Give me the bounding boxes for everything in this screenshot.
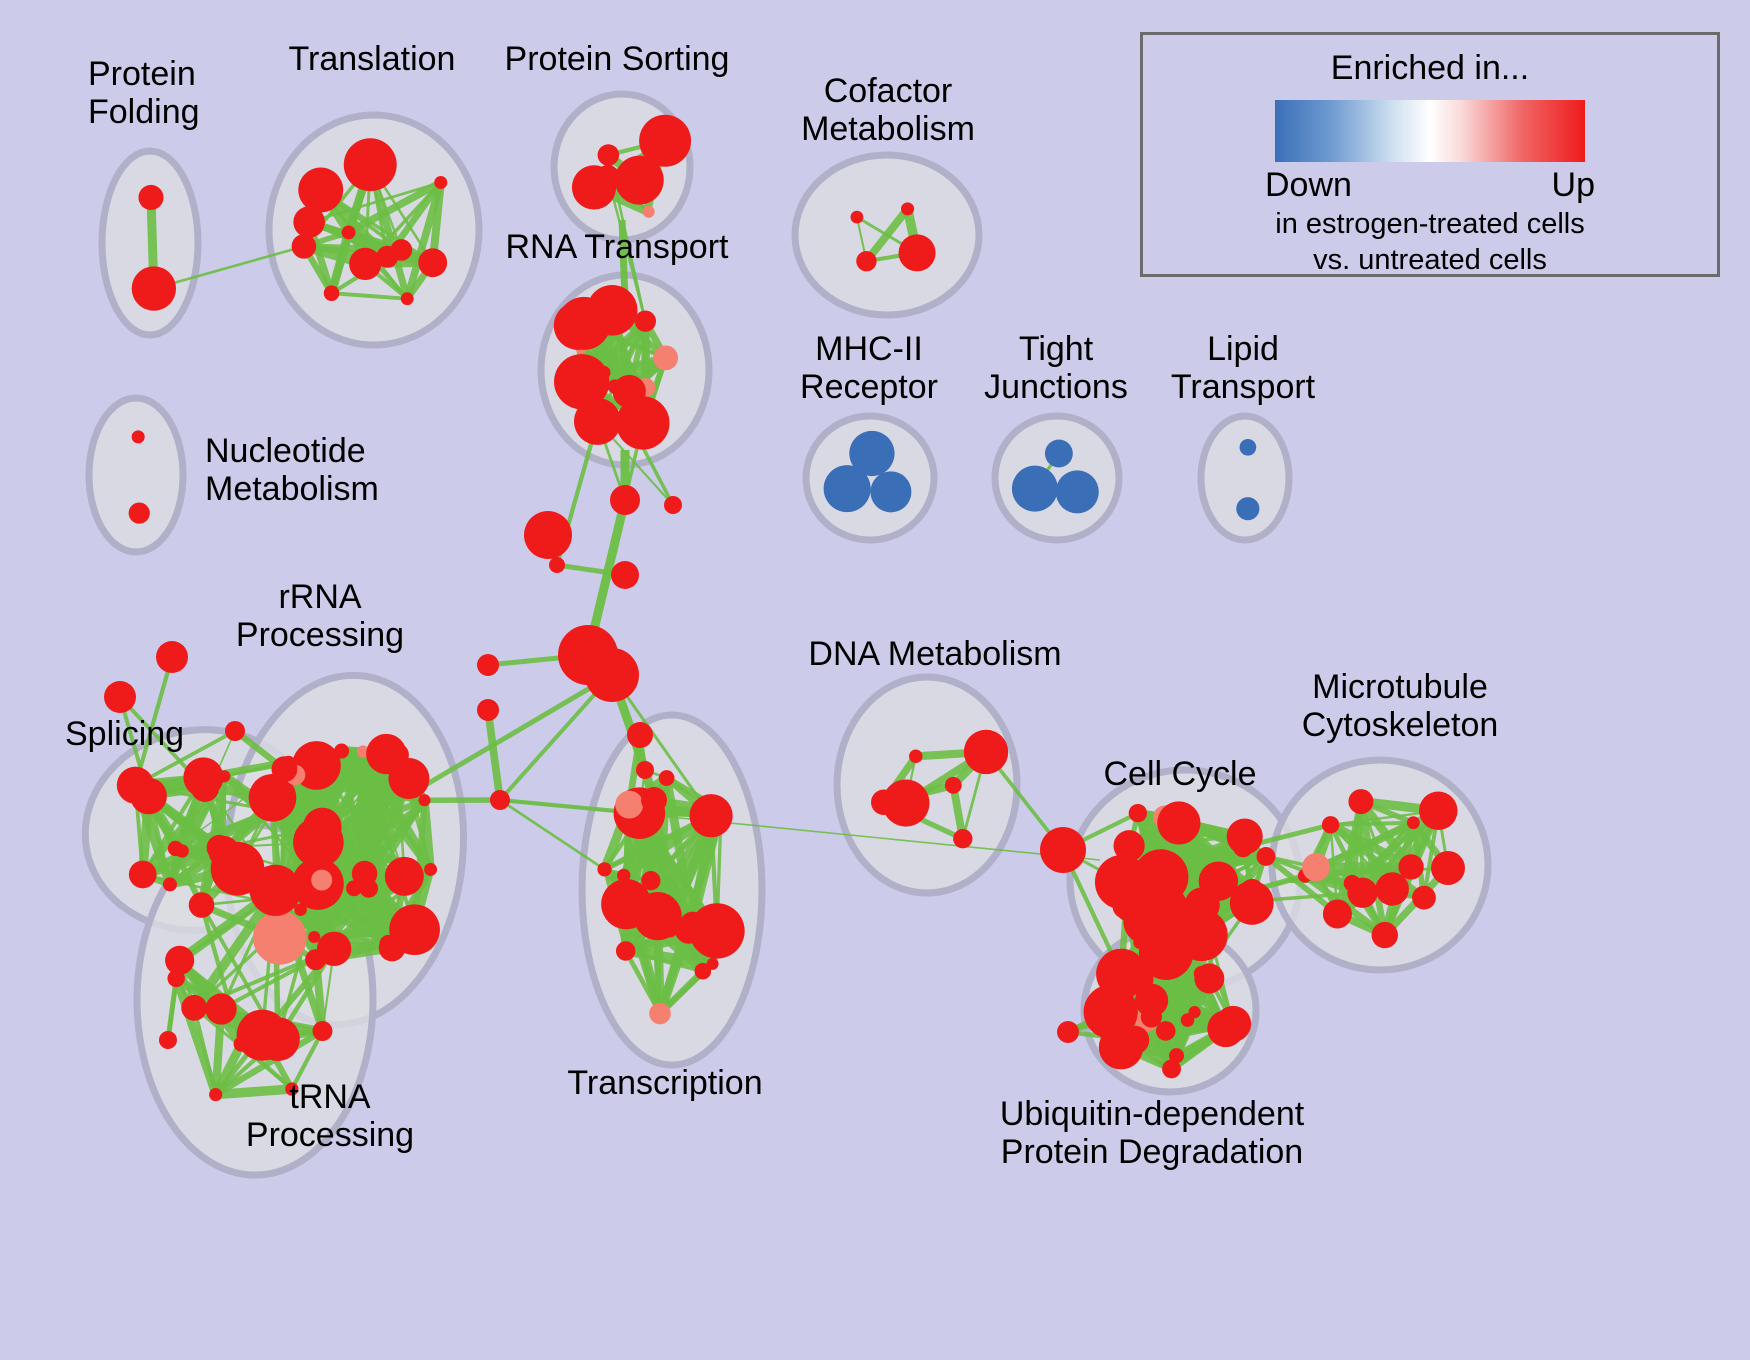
network-node bbox=[1215, 1006, 1251, 1042]
network-node bbox=[1302, 853, 1330, 881]
network-node bbox=[1113, 830, 1144, 861]
network-node bbox=[132, 430, 145, 443]
network-node bbox=[349, 248, 381, 280]
network-node bbox=[1045, 440, 1073, 468]
network-node bbox=[615, 791, 643, 819]
network-node bbox=[1257, 847, 1276, 866]
cluster-region-nucleotide-metabolism bbox=[89, 398, 183, 552]
network-node bbox=[308, 931, 320, 943]
network-node bbox=[271, 756, 297, 782]
network-node bbox=[191, 774, 219, 802]
network-node bbox=[346, 880, 362, 896]
enrichment-map-figure: Protein FoldingTranslationProtein Sortin… bbox=[0, 0, 1750, 1360]
cluster-label-lipid-transport: Lipid Transport bbox=[1171, 330, 1315, 406]
network-node bbox=[1095, 855, 1149, 909]
network-node bbox=[627, 722, 653, 748]
network-node bbox=[189, 892, 215, 918]
legend-title: Enriched in... bbox=[1143, 49, 1717, 88]
network-node bbox=[849, 431, 894, 476]
network-node bbox=[156, 641, 188, 673]
network-node bbox=[1375, 872, 1409, 906]
network-node bbox=[1419, 792, 1457, 830]
network-node bbox=[611, 561, 639, 589]
network-node bbox=[597, 862, 611, 876]
network-node bbox=[1125, 965, 1153, 993]
cluster-label-mhc-ii-receptor: MHC-II Receptor bbox=[800, 330, 938, 406]
legend-up-label: Up bbox=[1552, 166, 1595, 205]
network-node bbox=[130, 778, 167, 815]
network-node bbox=[132, 266, 176, 310]
network-node bbox=[181, 995, 207, 1021]
network-node bbox=[635, 310, 656, 331]
cluster-label-rrna-processing: rRNA Processing bbox=[236, 578, 404, 654]
network-node bbox=[598, 144, 620, 166]
cluster-label-cofactor-metabolism: Cofactor Metabolism bbox=[801, 72, 975, 148]
network-node bbox=[167, 970, 184, 987]
cluster-label-cell-cycle: Cell Cycle bbox=[1103, 755, 1256, 793]
legend-color-gradient bbox=[1275, 100, 1585, 162]
network-node bbox=[209, 1088, 222, 1101]
network-node bbox=[649, 1003, 671, 1025]
network-node bbox=[1431, 851, 1465, 885]
network-node bbox=[138, 185, 163, 210]
cluster-label-microtubule-cytoskeleton: Microtubule Cytoskeleton bbox=[1302, 668, 1499, 744]
cluster-label-trna-processing: tRNA Processing bbox=[246, 1078, 414, 1154]
network-node bbox=[344, 138, 397, 191]
network-node bbox=[1344, 875, 1361, 892]
network-node bbox=[379, 935, 397, 953]
legend-down-label: Down bbox=[1265, 166, 1352, 205]
cluster-region-lipid-transport bbox=[1201, 416, 1289, 540]
network-node bbox=[434, 176, 447, 189]
network-node bbox=[1181, 1013, 1195, 1027]
network-node bbox=[585, 648, 639, 702]
legend-caption-line2: vs. untreated cells bbox=[1143, 243, 1717, 277]
network-node bbox=[610, 485, 640, 515]
network-node bbox=[311, 870, 332, 891]
cluster-label-tight-junctions: Tight Junctions bbox=[984, 330, 1128, 406]
cluster-region-dna-metabolism bbox=[837, 677, 1017, 893]
network-node bbox=[945, 777, 962, 794]
legend-box: Enriched in... Down Up in estrogen-treat… bbox=[1140, 32, 1720, 277]
network-node bbox=[129, 502, 150, 523]
network-node bbox=[168, 841, 183, 856]
network-node bbox=[608, 379, 622, 393]
network-node bbox=[964, 730, 1008, 774]
cluster-label-ubiquitin-protein-degradation: Ubiquitin-dependent Protein Degradation bbox=[1000, 1095, 1304, 1171]
network-node bbox=[1240, 439, 1257, 456]
network-node bbox=[572, 165, 616, 209]
network-node bbox=[104, 681, 136, 713]
network-node bbox=[616, 941, 635, 960]
network-node bbox=[424, 863, 437, 876]
network-node bbox=[401, 292, 414, 305]
network-node bbox=[388, 758, 429, 799]
network-node bbox=[317, 932, 351, 966]
network-node bbox=[250, 865, 301, 916]
network-node bbox=[1057, 1021, 1079, 1043]
network-node bbox=[1230, 881, 1274, 925]
cluster-region-tight-junctions bbox=[995, 416, 1119, 540]
network-node bbox=[554, 354, 609, 409]
network-node bbox=[225, 721, 245, 741]
network-node bbox=[163, 877, 177, 891]
network-node bbox=[324, 285, 340, 301]
cluster-label-splicing: Splicing bbox=[65, 715, 184, 753]
cluster-label-dna-metabolism: DNA Metabolism bbox=[808, 635, 1061, 673]
network-node bbox=[659, 770, 675, 786]
network-node bbox=[1227, 819, 1263, 855]
network-node bbox=[1162, 1060, 1181, 1079]
network-node bbox=[477, 699, 499, 721]
network-node bbox=[664, 496, 682, 514]
network-node bbox=[899, 234, 936, 271]
network-node bbox=[237, 1010, 288, 1061]
network-node bbox=[418, 794, 430, 806]
network-node bbox=[870, 471, 911, 512]
network-node bbox=[554, 301, 602, 349]
cluster-label-nucleotide-metabolism: Nucleotide Metabolism bbox=[205, 432, 379, 508]
network-node bbox=[293, 206, 325, 238]
network-node bbox=[1322, 816, 1339, 833]
network-node bbox=[1084, 985, 1138, 1039]
cluster-label-protein-sorting: Protein Sorting bbox=[505, 40, 730, 78]
network-node bbox=[205, 993, 236, 1024]
cluster-label-rna-transport: RNA Transport bbox=[506, 228, 729, 266]
network-node bbox=[601, 879, 651, 929]
network-node bbox=[1348, 789, 1373, 814]
cluster-label-translation: Translation bbox=[289, 40, 456, 78]
network-node bbox=[1040, 827, 1086, 873]
network-node bbox=[641, 787, 667, 813]
network-node bbox=[689, 794, 732, 837]
network-node bbox=[1129, 804, 1147, 822]
network-node bbox=[1056, 470, 1099, 513]
network-node bbox=[342, 225, 356, 239]
cluster-label-protein-folding: Protein Folding bbox=[88, 55, 200, 131]
network-node bbox=[234, 1036, 249, 1051]
network-node bbox=[218, 770, 230, 782]
network-node bbox=[549, 557, 565, 573]
network-edge bbox=[488, 710, 500, 800]
network-node bbox=[524, 511, 572, 559]
network-node bbox=[1323, 899, 1352, 928]
network-node bbox=[334, 743, 349, 758]
network-node bbox=[689, 903, 744, 958]
network-node bbox=[1236, 497, 1259, 520]
network-node bbox=[871, 790, 896, 815]
network-node bbox=[389, 904, 440, 955]
network-node bbox=[292, 234, 317, 259]
network-node bbox=[953, 829, 972, 848]
network-node bbox=[418, 248, 447, 277]
network-node bbox=[1167, 807, 1189, 829]
cluster-label-transcription: Transcription bbox=[567, 1064, 762, 1102]
network-node bbox=[298, 168, 343, 213]
network-node bbox=[1012, 466, 1058, 512]
network-node bbox=[312, 1021, 332, 1041]
network-node bbox=[901, 202, 914, 215]
network-node bbox=[856, 251, 876, 271]
network-node bbox=[385, 857, 424, 896]
network-node bbox=[643, 206, 655, 218]
network-node bbox=[1194, 964, 1224, 994]
network-node bbox=[1412, 886, 1436, 910]
network-node bbox=[477, 654, 499, 676]
network-node bbox=[909, 750, 923, 764]
network-node bbox=[490, 790, 510, 810]
network-node bbox=[1407, 816, 1420, 829]
network-node bbox=[253, 911, 307, 965]
network-node bbox=[851, 211, 864, 224]
network-node bbox=[616, 396, 669, 449]
network-node bbox=[639, 115, 691, 167]
network-node bbox=[636, 761, 654, 779]
network-node bbox=[1372, 922, 1398, 948]
network-node bbox=[653, 345, 678, 370]
network-node bbox=[129, 861, 157, 889]
network-node bbox=[707, 958, 719, 970]
network-node bbox=[159, 1031, 177, 1049]
legend-caption-line1: in estrogen-treated cells bbox=[1143, 207, 1717, 241]
network-node bbox=[303, 808, 342, 847]
